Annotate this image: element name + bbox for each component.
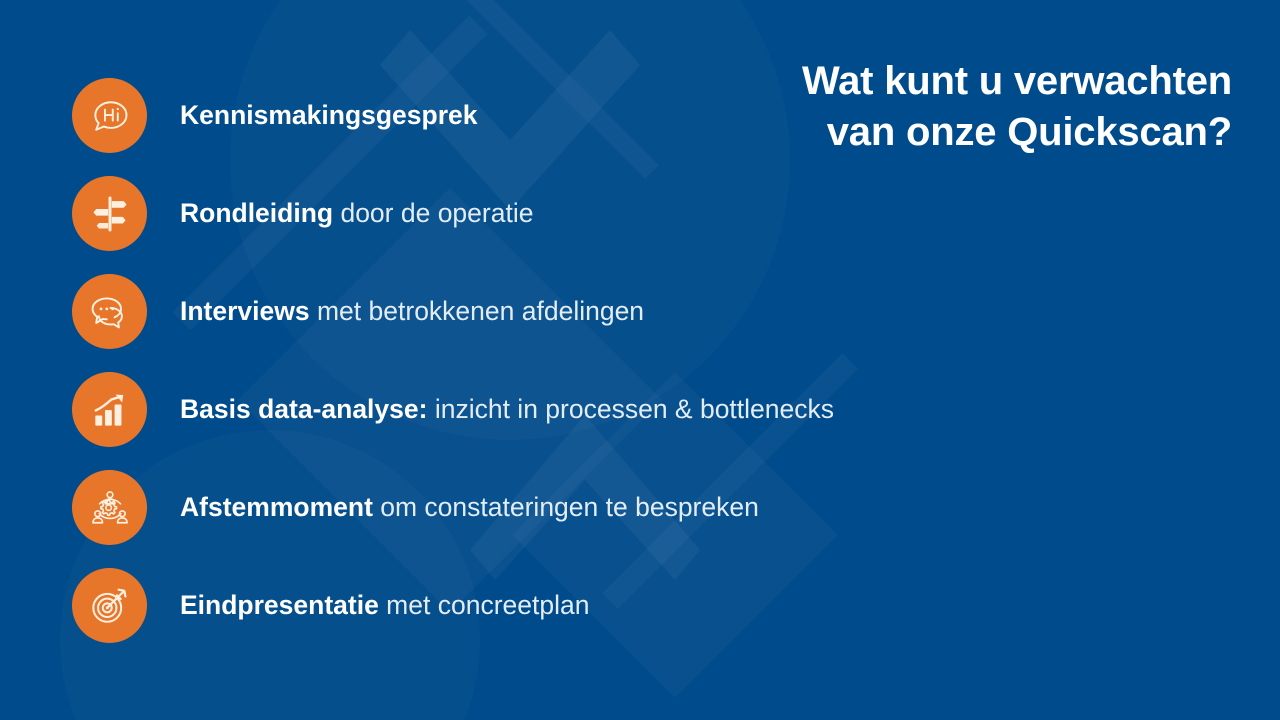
list-item-text: Basis data-analyse: inzicht in processen… bbox=[180, 394, 834, 426]
list-item-text: Rondleiding door de operatie bbox=[180, 198, 533, 230]
bar-chart-growth-icon bbox=[72, 372, 147, 447]
list-item-rest: met concreetplan bbox=[379, 590, 590, 620]
expectations-list: Kennismakingsgesprek Rondleiding door de… bbox=[72, 78, 1232, 643]
list-item-lead: Afstemmoment bbox=[180, 492, 373, 522]
list-item-text: Interviews met betrokkenen afdelingen bbox=[180, 296, 644, 328]
list-item-rest: door de operatie bbox=[333, 198, 533, 228]
list-item-lead: Interviews bbox=[180, 296, 310, 326]
list-item: Interviews met betrokkenen afdelingen bbox=[72, 274, 1232, 349]
target-dart-icon bbox=[72, 568, 147, 643]
list-item: Basis data-analyse: inzicht in processen… bbox=[72, 372, 1232, 447]
chat-bubbles-icon bbox=[72, 274, 147, 349]
list-item: Eindpresentatie met concreetplan bbox=[72, 568, 1232, 643]
list-item-lead: Rondleiding bbox=[180, 198, 333, 228]
list-item-lead: Eindpresentatie bbox=[180, 590, 379, 620]
list-item: Afstemmoment om constateringen te bespre… bbox=[72, 470, 1232, 545]
list-item-lead: Kennismakingsgesprek bbox=[180, 100, 478, 130]
list-item-rest: met betrokkenen afdelingen bbox=[310, 296, 644, 326]
list-item-text: Afstemmoment om constateringen te bespre… bbox=[180, 492, 759, 524]
team-gear-icon bbox=[72, 470, 147, 545]
list-item: Rondleiding door de operatie bbox=[72, 176, 1232, 251]
list-item: Kennismakingsgesprek bbox=[72, 78, 1232, 153]
list-item-text: Kennismakingsgesprek bbox=[180, 100, 478, 132]
slide-canvas: Wat kunt u verwachten van onze Quickscan… bbox=[0, 0, 1280, 720]
list-item-rest: inzicht in processen & bottlenecks bbox=[427, 394, 834, 424]
speech-bubble-hi-icon bbox=[72, 78, 147, 153]
list-item-text: Eindpresentatie met concreetplan bbox=[180, 590, 589, 622]
list-item-lead: Basis data-analyse: bbox=[180, 394, 427, 424]
list-item-rest: om constateringen te bespreken bbox=[373, 492, 759, 522]
signpost-icon bbox=[72, 176, 147, 251]
